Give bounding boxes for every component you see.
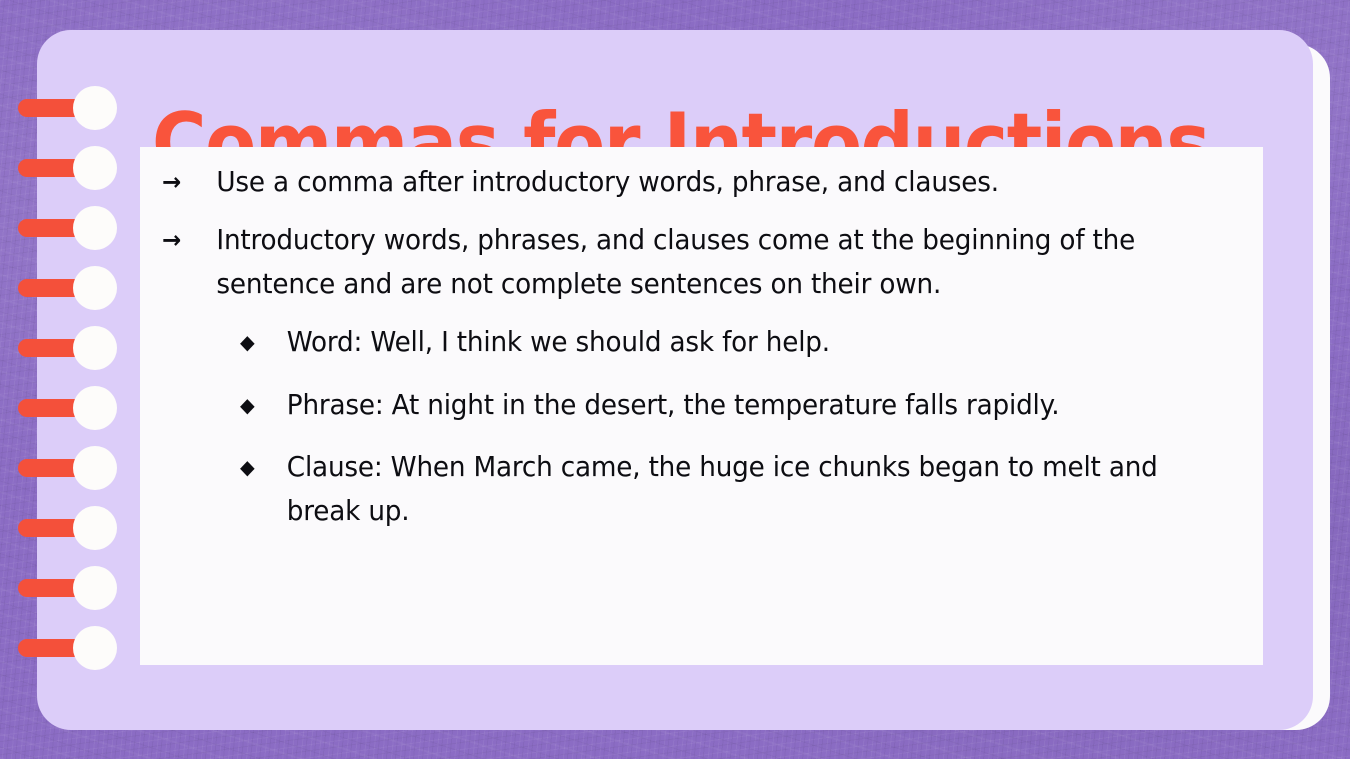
spiral-ring	[0, 146, 115, 190]
spiral-ring	[0, 626, 115, 670]
example-text: Phrase: At night in the desert, the temp…	[287, 384, 1204, 427]
spiral-ring	[0, 86, 115, 130]
example-text: Clause: When March came, the huge ice ch…	[287, 446, 1204, 533]
spiral-hole	[73, 86, 117, 130]
content-panel: → Use a comma after introductory words, …	[140, 147, 1263, 665]
arrow-bullet-icon: →	[162, 219, 216, 262]
bullet-text: Use a comma after introductory words, ph…	[216, 161, 1185, 204]
slide: Commas for Introductions → Use a comma a…	[0, 0, 1350, 759]
arrow-bullet-icon: →	[162, 161, 216, 204]
list-item: ◆ Word: Well, I think we should ask for …	[240, 321, 1217, 364]
spiral-hole	[73, 446, 117, 490]
spiral-ring	[0, 566, 115, 610]
diamond-bullet-icon: ◆	[240, 384, 287, 427]
spiral-ring	[0, 386, 115, 430]
diamond-bullet-icon: ◆	[240, 321, 287, 364]
spiral-ring	[0, 506, 115, 550]
list-item: → Introductory words, phrases, and claus…	[140, 219, 1212, 306]
spiral-hole	[73, 566, 117, 610]
spiral-hole	[73, 626, 117, 670]
spiral-hole	[73, 266, 117, 310]
list-item: ◆ Phrase: At night in the desert, the te…	[240, 384, 1217, 427]
diamond-bullet-icon: ◆	[240, 446, 287, 489]
bullet-text: Introductory words, phrases, and clauses…	[216, 219, 1185, 306]
spiral-hole	[73, 206, 117, 250]
example-list: ◆ Word: Well, I think we should ask for …	[140, 321, 1263, 533]
list-item: ◆ Clause: When March came, the huge ice …	[240, 446, 1217, 533]
list-item: → Use a comma after introductory words, …	[140, 161, 1212, 204]
spiral-hole	[73, 506, 117, 550]
spiral-ring	[0, 266, 115, 310]
spiral-binding	[0, 0, 130, 759]
spiral-hole	[73, 326, 117, 370]
spiral-ring	[0, 326, 115, 370]
spiral-ring	[0, 206, 115, 250]
example-text: Word: Well, I think we should ask for he…	[287, 321, 1204, 364]
spiral-hole	[73, 386, 117, 430]
spiral-hole	[73, 146, 117, 190]
spiral-ring	[0, 446, 115, 490]
main-bullet-list: → Use a comma after introductory words, …	[140, 161, 1263, 306]
